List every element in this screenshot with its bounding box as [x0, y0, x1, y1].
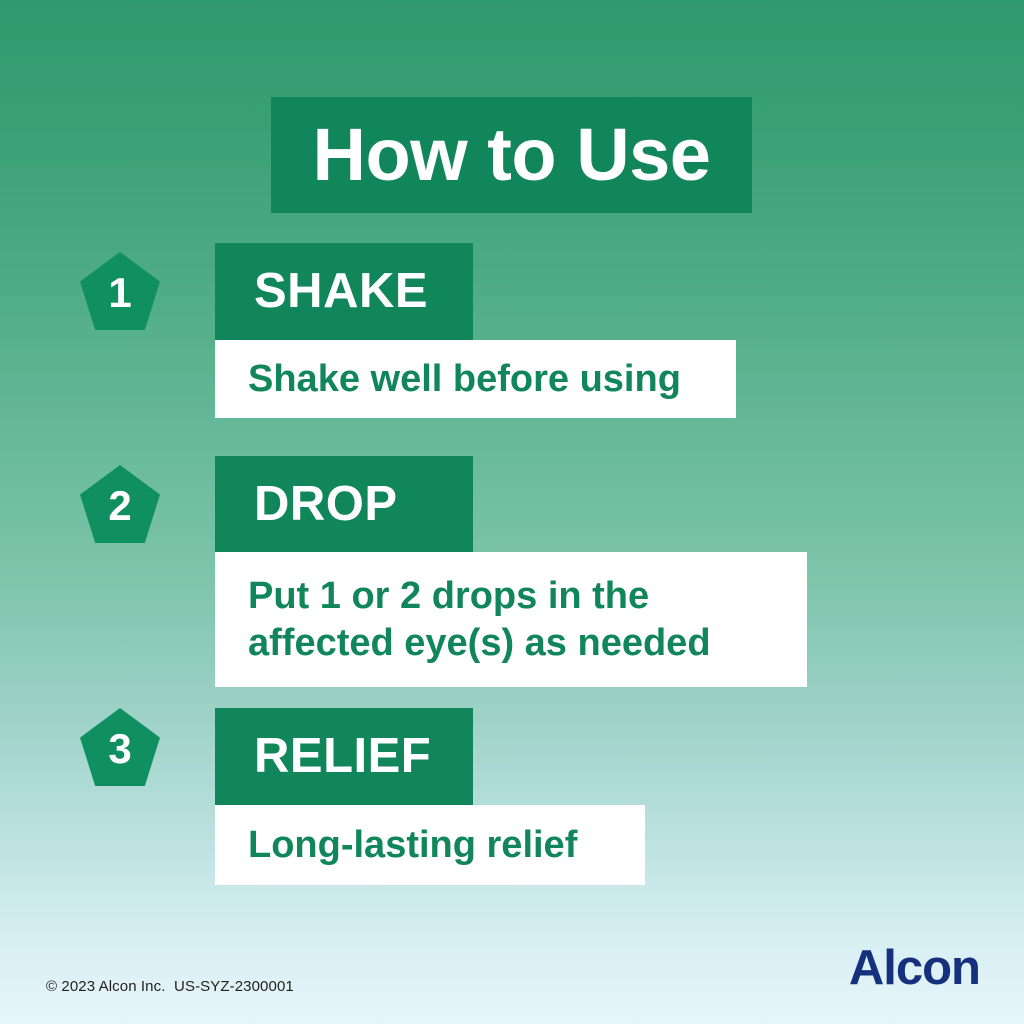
how-to-use-poster: How to Use 1 SHAKE Shake well before usi… — [0, 0, 1024, 1024]
copyright-text: © 2023 Alcon Inc. US-SYZ-2300001 — [46, 978, 294, 995]
step-body-box-2: Put 1 or 2 drops in the affected eye(s) … — [215, 552, 807, 687]
page-title: How to Use — [313, 118, 711, 192]
step-body-1: Shake well before using — [215, 356, 681, 402]
page-title-banner: How to Use — [271, 97, 752, 213]
step-heading-2: DROP — [215, 480, 398, 529]
pentagon-badge-2: 2 — [80, 465, 160, 543]
step-number-1: 1 — [108, 272, 131, 314]
step-heading-3: RELIEF — [215, 732, 431, 781]
step-number-2: 2 — [108, 485, 131, 527]
step-body-2: Put 1 or 2 drops in the affected eye(s) … — [215, 573, 711, 666]
step-body-box-1: Shake well before using — [215, 340, 736, 418]
step-heading-box-3: RELIEF — [215, 708, 473, 805]
step-body-3: Long-lasting relief — [215, 822, 577, 868]
pentagon-badge-3: 3 — [80, 708, 160, 786]
step-heading-1: SHAKE — [215, 267, 428, 316]
step-number-3: 3 — [108, 728, 131, 770]
step-heading-box-1: SHAKE — [215, 243, 473, 340]
pentagon-badge-1: 1 — [80, 252, 160, 330]
step-heading-box-2: DROP — [215, 456, 473, 552]
step-body-box-3: Long-lasting relief — [215, 805, 645, 885]
alcon-logo: Alcon — [849, 944, 980, 993]
